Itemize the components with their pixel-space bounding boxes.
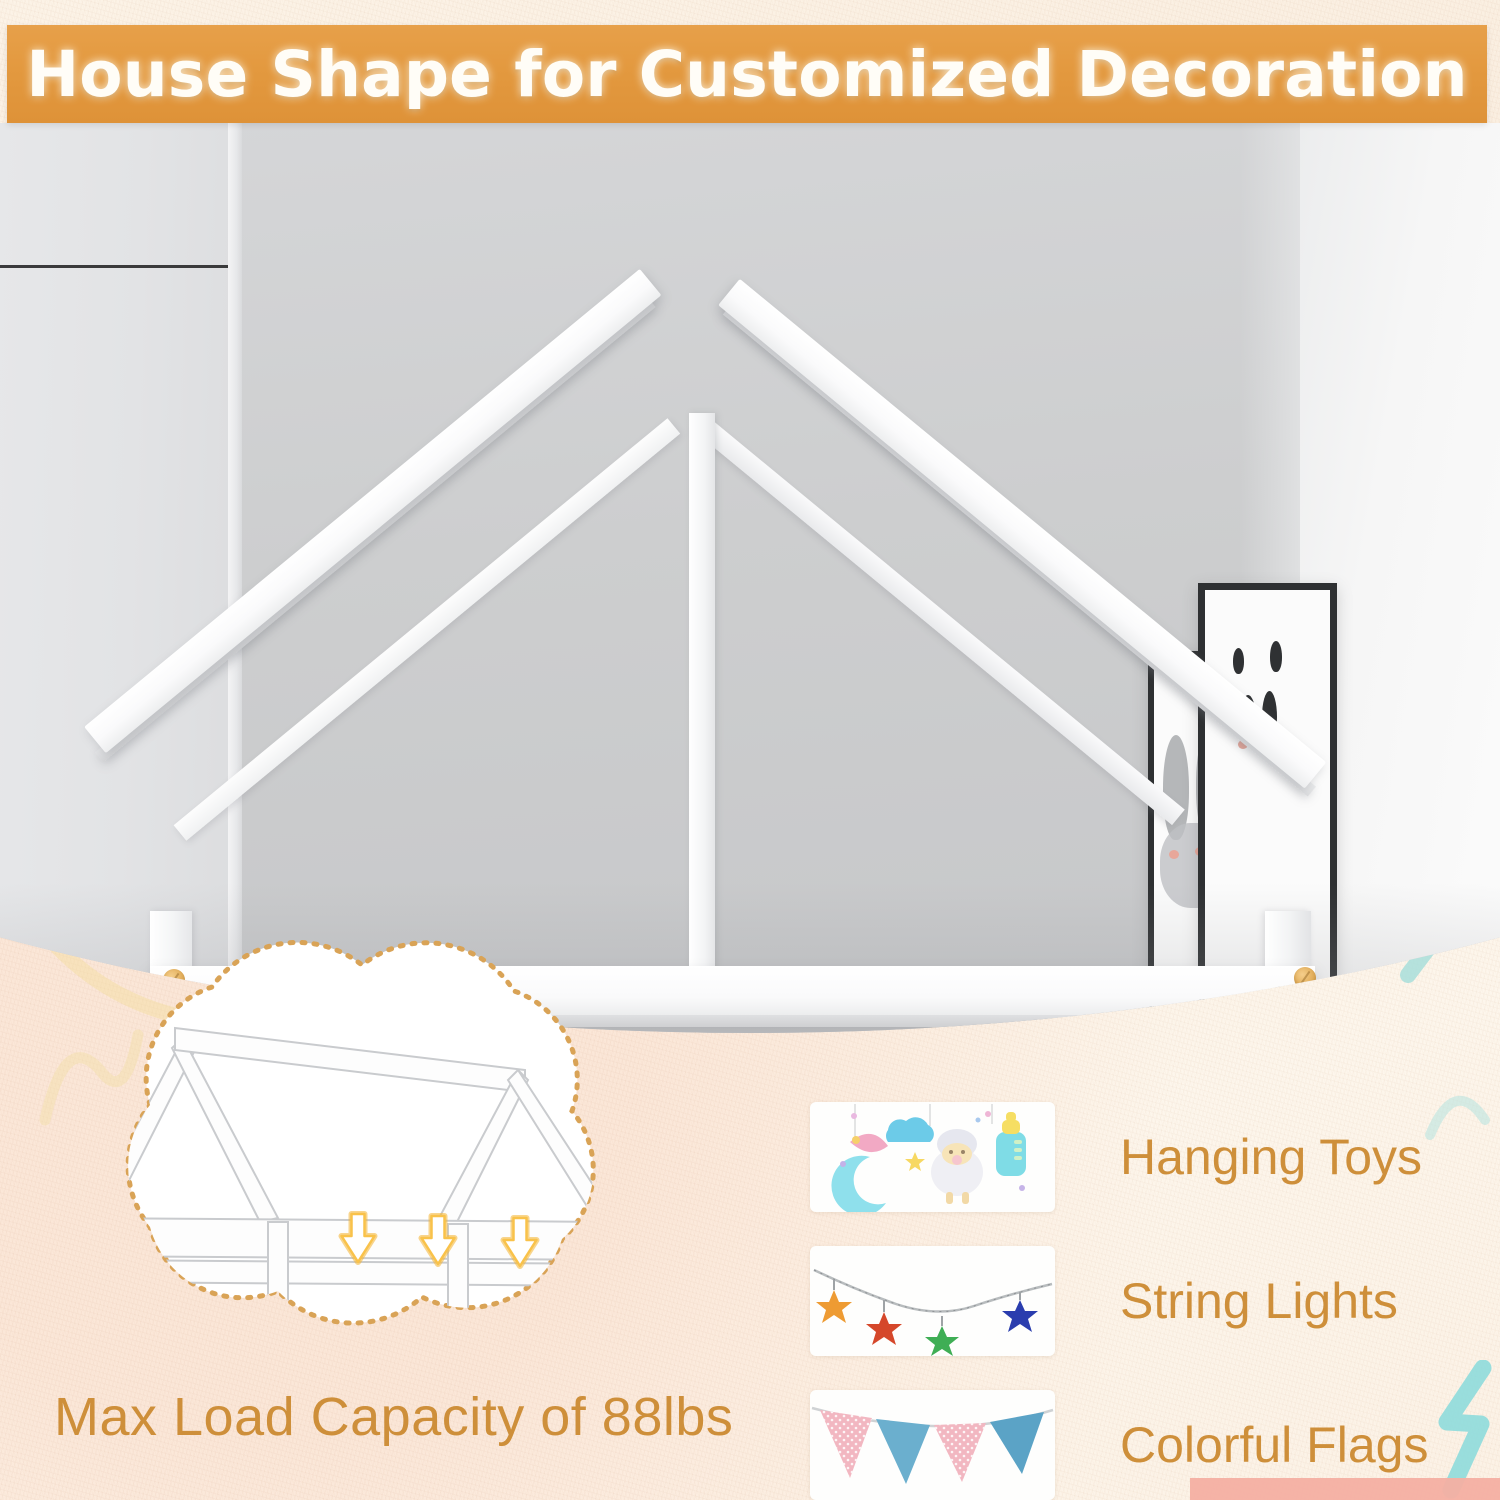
header-banner: House Shape for Customized Decoration	[7, 25, 1487, 123]
product-photo	[0, 123, 1500, 1033]
feature-label-colorful-flags: Colorful Flags	[1120, 1416, 1428, 1474]
poster-face-eye-left	[1233, 648, 1244, 674]
poster-rabbit-blush-left	[1169, 850, 1179, 859]
feature-row-string-lights[interactable]: String Lights	[810, 1236, 1470, 1366]
feature-row-hanging-toys[interactable]: Hanging Toys	[810, 1092, 1470, 1222]
hanging-toys-icon	[810, 1102, 1055, 1212]
colorful-flags-icon	[810, 1390, 1055, 1500]
poster-face-eye-right	[1270, 641, 1282, 672]
poster-canvas: House Shape for Customized Decoration	[0, 0, 1500, 1500]
string-lights-icon	[810, 1246, 1055, 1356]
ridge-post	[689, 413, 715, 993]
feature-label-string-lights: String Lights	[1120, 1272, 1398, 1330]
page-title: House Shape for Customized Decoration	[26, 38, 1467, 111]
wardrobe-seam-line	[0, 265, 228, 268]
feature-list: Hanging Toys String Lights	[810, 1092, 1470, 1500]
max-load-caption: Max Load Capacity of 88lbs	[54, 1386, 754, 1448]
feature-row-colorful-flags[interactable]: Colorful Flags	[810, 1380, 1470, 1500]
feature-label-hanging-toys: Hanging Toys	[1120, 1128, 1422, 1186]
cloud-callout	[20, 930, 720, 1350]
